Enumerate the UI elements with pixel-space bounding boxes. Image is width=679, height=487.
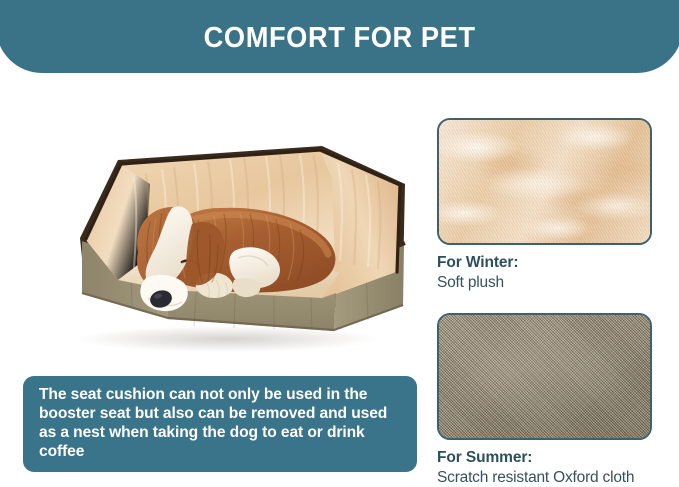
swatch-title-summer: For Summer: [437,449,652,468]
product-photo-illustration [22,112,422,357]
swatch-block-summer: For Summer: Scratch resistant Oxford clo… [437,313,652,487]
swatch-image-summer [437,313,652,440]
swatch-title-winter: For Winter: [437,254,652,273]
caption-text: The seat cushion can not only be used in… [39,385,403,461]
swatch-description-winter: Soft plush [437,273,652,292]
caption-box: The seat cushion can not only be used in… [23,376,417,472]
swatch-image-winter [437,118,652,245]
plush-speckle-overlay [439,120,650,243]
header-banner: COMFORT FOR PET [0,0,679,73]
swatch-block-winter: For Winter: Soft plush [437,118,652,292]
oxford-shading-overlay [439,315,650,438]
oxford-fabric-texture [439,315,650,438]
swatch-description-summer: Scratch resistant Oxford cloth [437,468,652,487]
plush-fabric-texture [439,120,650,243]
swatch-labels-summer: For Summer: Scratch resistant Oxford clo… [437,449,652,487]
swatch-labels-winter: For Winter: Soft plush [437,254,652,292]
page-title: COMFORT FOR PET [204,24,476,53]
product-photo [22,112,422,357]
